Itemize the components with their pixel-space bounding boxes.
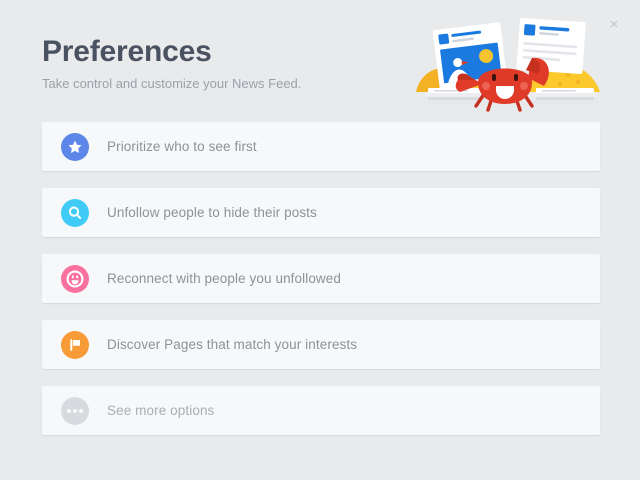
option-label: Prioritize who to see first	[107, 139, 257, 154]
option-row-see-more[interactable]: See more options	[42, 386, 600, 435]
preferences-option-list: Prioritize who to see first Unfollow peo…	[42, 122, 600, 435]
preferences-dialog: × Preferences Take control and customize…	[0, 0, 640, 480]
star-icon	[61, 133, 89, 161]
search-icon	[61, 199, 89, 227]
option-row-unfollow[interactable]: Unfollow people to hide their posts	[42, 188, 600, 237]
dialog-header: Preferences Take control and customize y…	[42, 34, 402, 92]
option-label: Reconnect with people you unfollowed	[107, 271, 341, 286]
option-row-reconnect[interactable]: Reconnect with people you unfollowed	[42, 254, 600, 303]
ellipsis-icon	[61, 397, 89, 425]
smiley-icon	[61, 265, 89, 293]
option-label: Unfollow people to hide their posts	[107, 205, 317, 220]
page-subtitle: Take control and customize your News Fee…	[42, 76, 402, 92]
option-row-discover-pages[interactable]: Discover Pages that match your interests	[42, 320, 600, 369]
flag-icon	[61, 331, 89, 359]
crab-news-feed-illustration	[412, 12, 608, 112]
option-row-prioritize[interactable]: Prioritize who to see first	[42, 122, 600, 171]
page-title: Preferences	[42, 34, 402, 70]
option-label: Discover Pages that match your interests	[107, 337, 357, 352]
option-label: See more options	[107, 403, 214, 418]
